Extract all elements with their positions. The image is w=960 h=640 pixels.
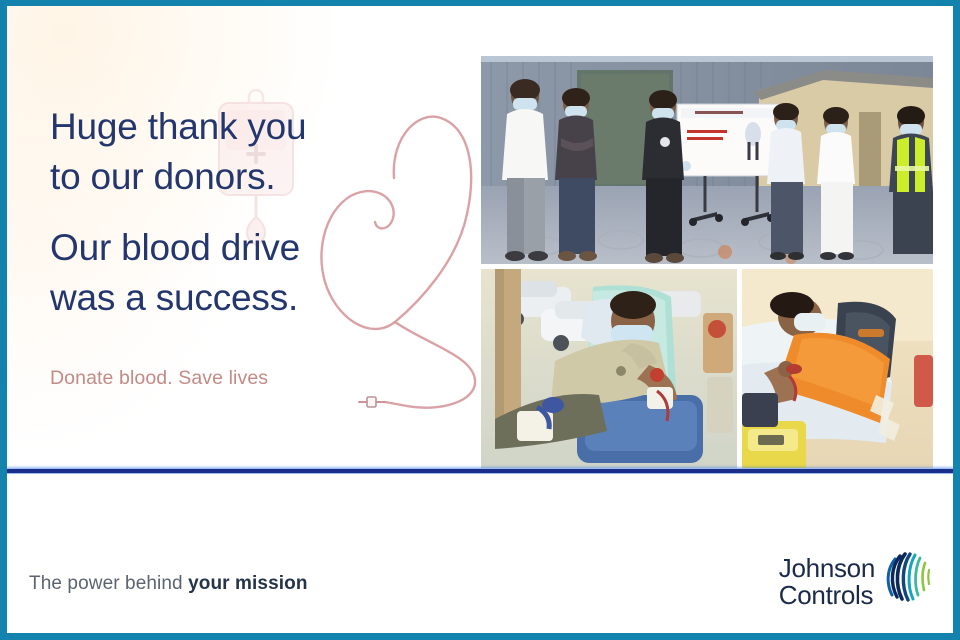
photo-collage bbox=[481, 56, 933, 476]
slide-frame: Huge thank you to our donors. Our blood … bbox=[0, 0, 960, 640]
text-block: Huge thank you to our donors. Our blood … bbox=[50, 102, 470, 390]
headline-line-1: Huge thank you to our donors. bbox=[50, 102, 470, 202]
donor-in-orange-coverall-photo bbox=[742, 269, 933, 476]
slide-canvas: Huge thank you to our donors. Our blood … bbox=[7, 6, 953, 633]
tagline: Donate blood. Save lives bbox=[50, 367, 470, 390]
brand-motto: The power behind your mission bbox=[29, 573, 308, 595]
logo-line-1: Johnson bbox=[779, 553, 875, 583]
headline-line-2: Our blood drive was a success. bbox=[50, 223, 470, 323]
motto-regular: The power behind bbox=[29, 573, 188, 594]
motto-bold: your mission bbox=[188, 573, 307, 594]
logo-wordmark: Johnson Controls bbox=[779, 555, 875, 609]
logo-line-2: Controls bbox=[779, 582, 875, 609]
johnson-controls-logo: Johnson Controls bbox=[779, 555, 933, 609]
tube-clamp-connector bbox=[367, 397, 376, 407]
group-photo-blood-drive-team bbox=[481, 56, 933, 264]
donor-in-chair-photo bbox=[481, 269, 737, 476]
footer: The power behind your mission Johnson Co… bbox=[7, 474, 953, 633]
content-area: Huge thank you to our donors. Our blood … bbox=[7, 6, 953, 468]
johnson-controls-sphere-mark bbox=[881, 549, 933, 603]
photo-row-bottom bbox=[481, 269, 933, 476]
